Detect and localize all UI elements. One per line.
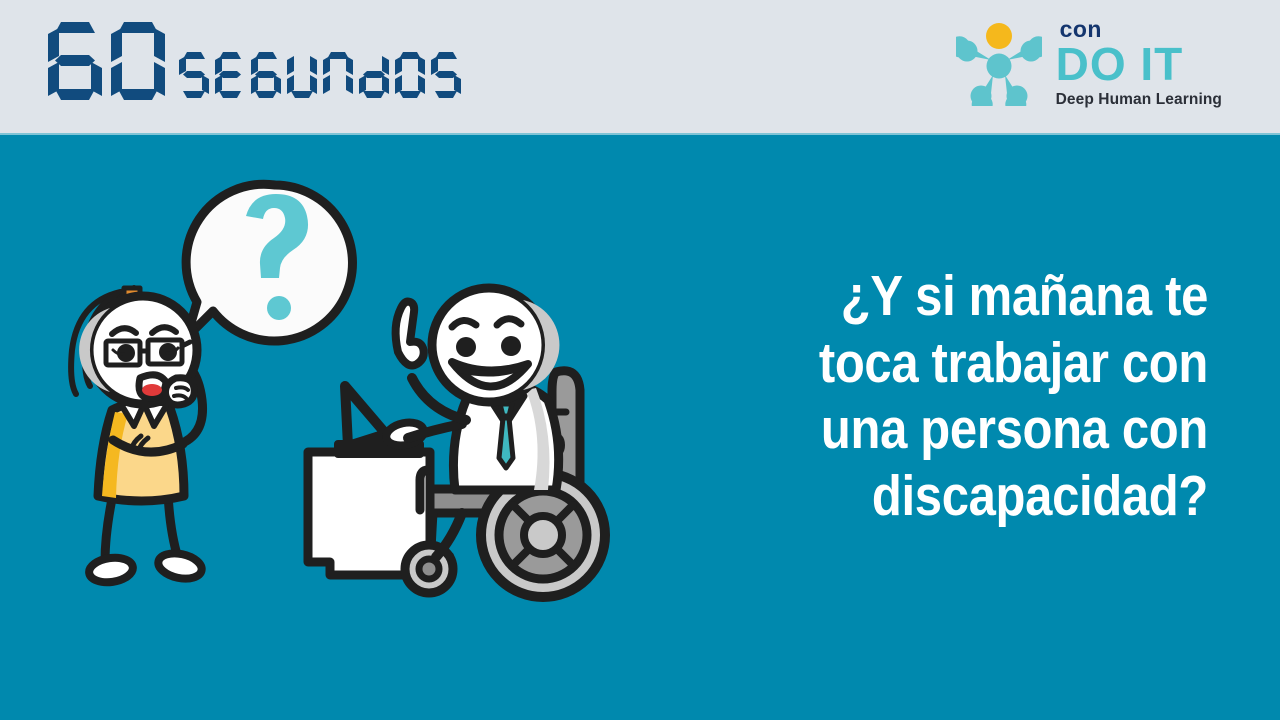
thinking-woman-character (71, 288, 204, 585)
slide-canvas: 60 SEGUNDOS (0, 0, 1280, 720)
headline-text: ¿Y si mañana te toca trabajar con una pe… (804, 263, 1208, 530)
question-speech-bubble (186, 184, 352, 341)
